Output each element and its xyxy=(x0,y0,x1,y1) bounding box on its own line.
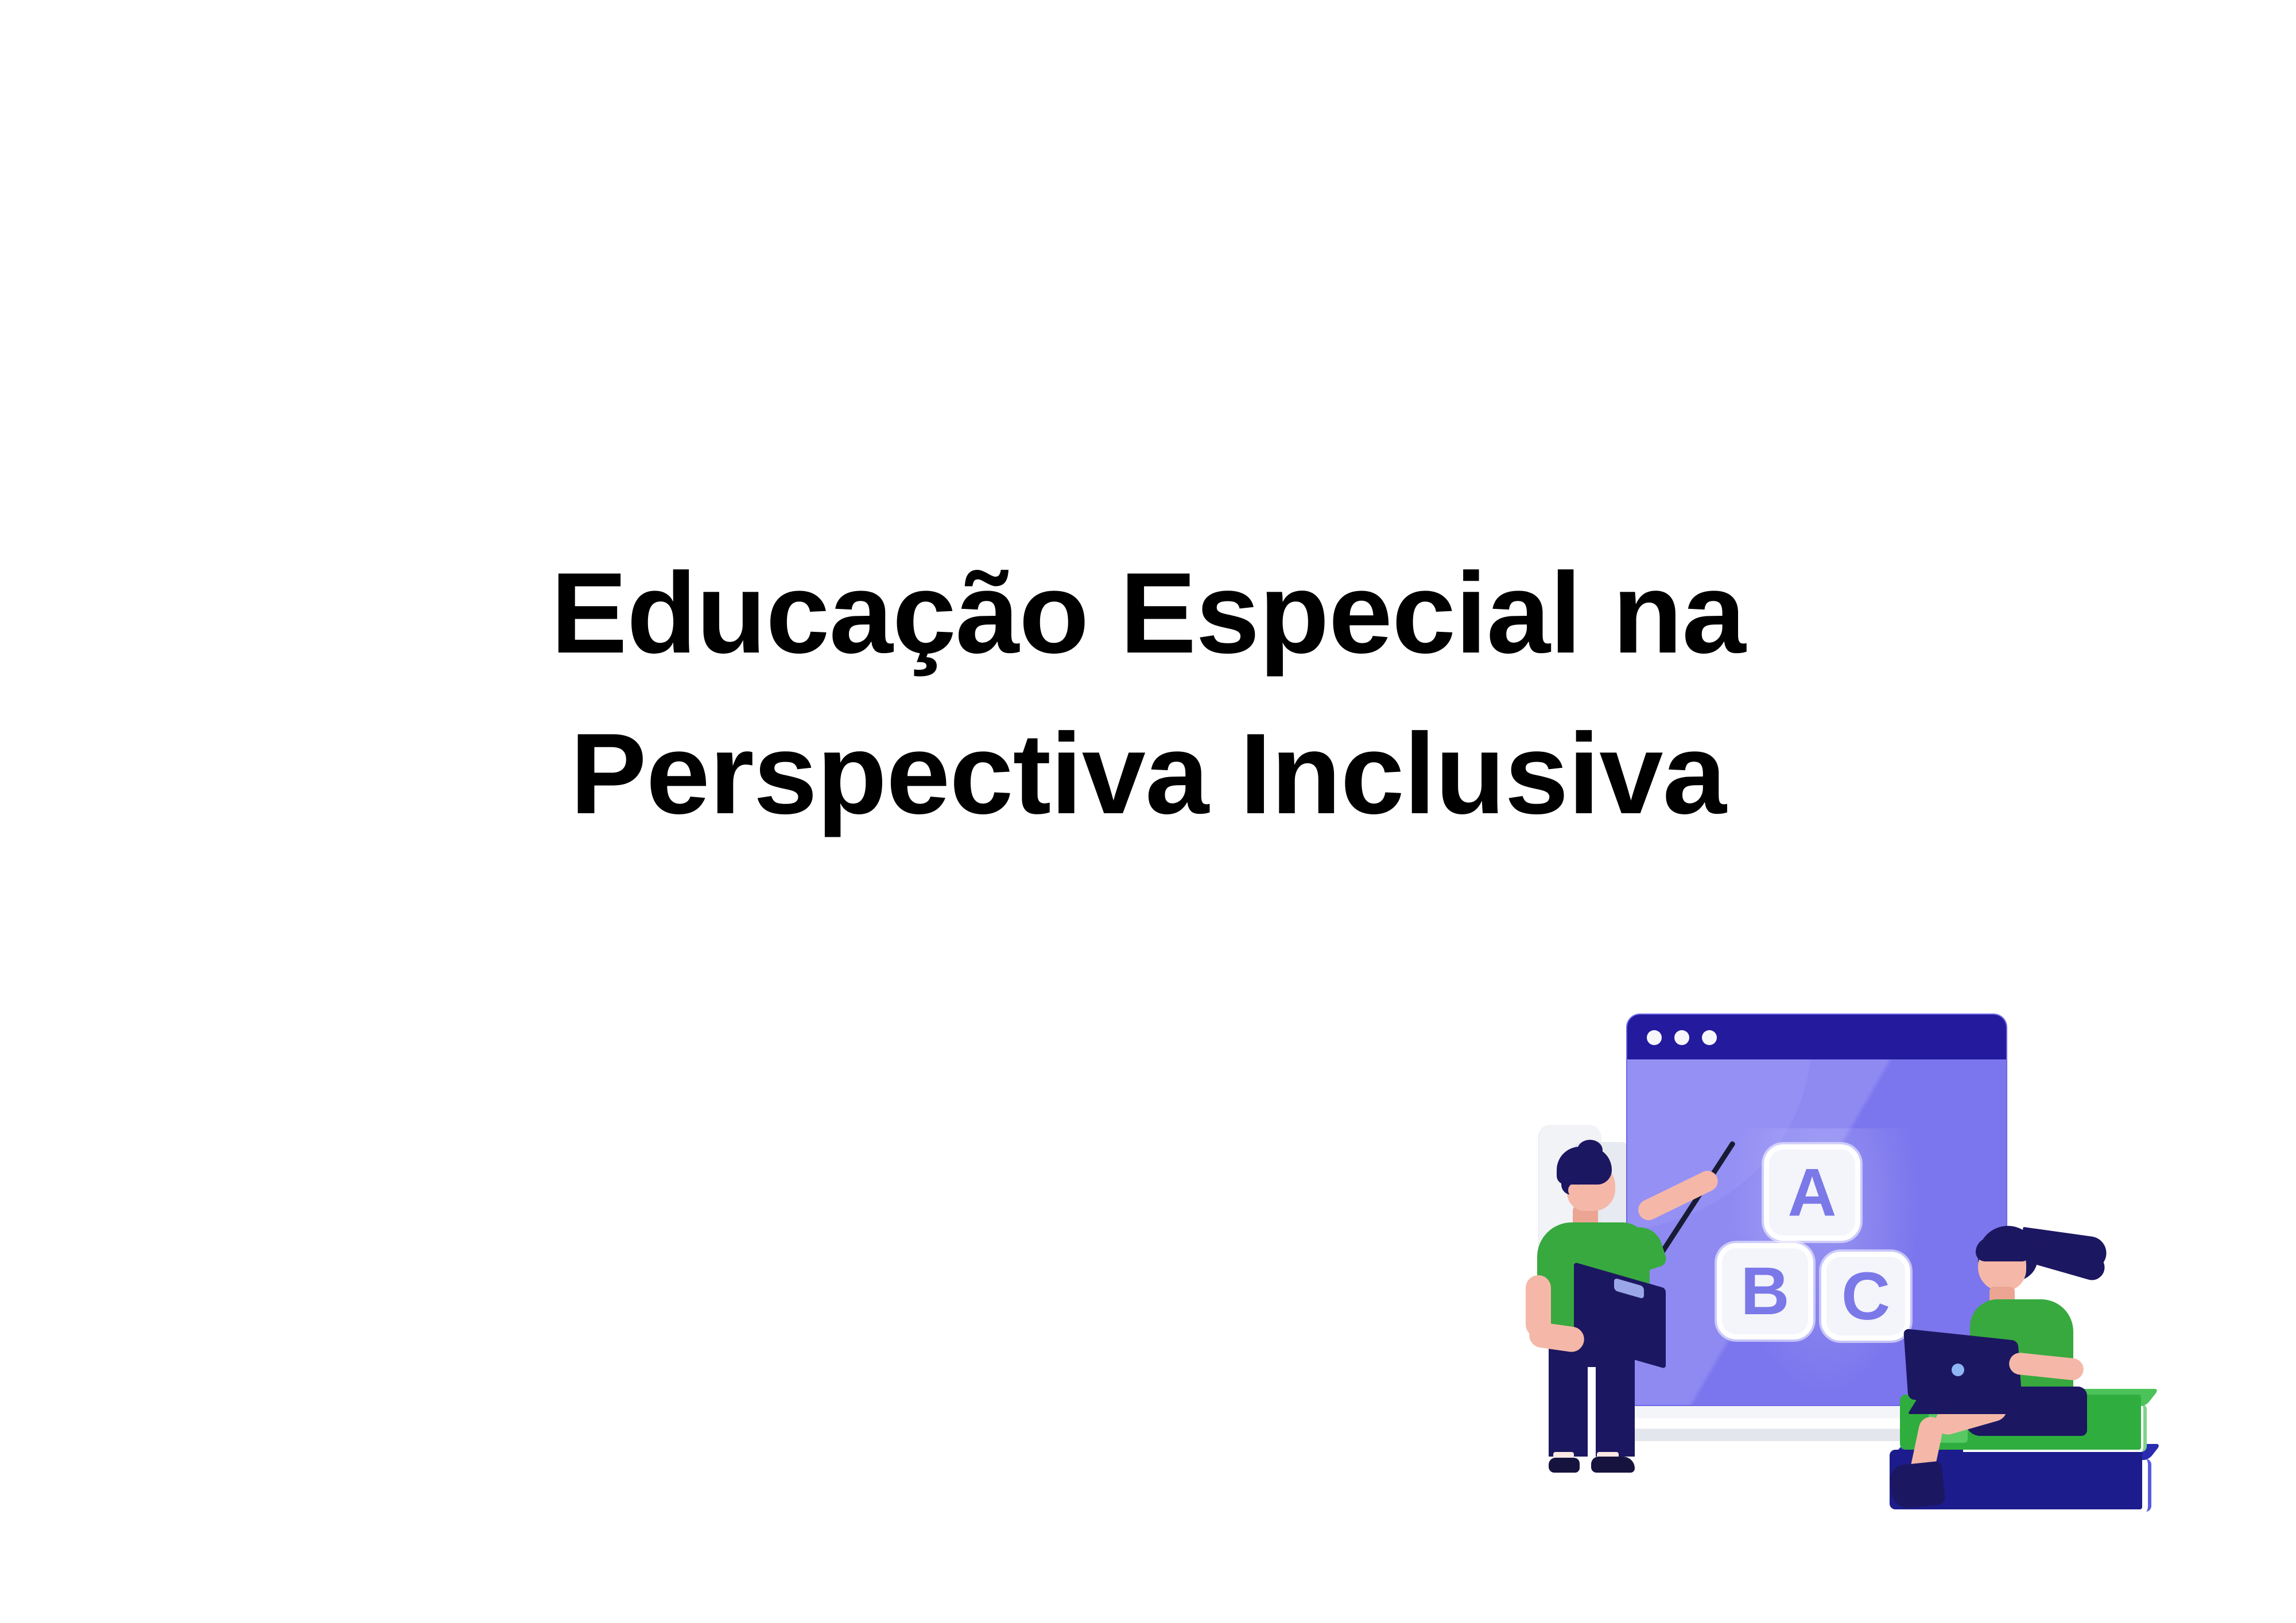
laptop-logo-icon xyxy=(1952,1364,1964,1376)
letter-block-a: A xyxy=(1764,1144,1860,1241)
teacher-shoe-left xyxy=(1549,1458,1580,1473)
window-dot-3-icon xyxy=(1702,1030,1717,1045)
letter-block-c: C xyxy=(1821,1252,1910,1341)
teacher-leg-gap xyxy=(1588,1367,1596,1457)
student-figure xyxy=(1940,1222,2170,1486)
teacher-hair-tuft xyxy=(1577,1140,1603,1160)
student-hair-front xyxy=(1976,1237,2029,1261)
window-controls xyxy=(1647,1030,1717,1045)
window-dot-1-icon xyxy=(1647,1030,1662,1045)
online-education-illustration: A B C xyxy=(1504,970,2262,1544)
title-line-1: Educação Especial na xyxy=(218,534,2078,693)
page-title: Educação Especial na Perspectiva Inclusi… xyxy=(0,534,2296,854)
window-dot-2-icon xyxy=(1674,1030,1689,1045)
title-line-2: Perspectiva Inclusiva xyxy=(218,694,2078,854)
browser-title-bar xyxy=(1627,1015,2006,1059)
teacher-shoe-right xyxy=(1591,1457,1635,1473)
student-shoe xyxy=(1888,1461,1945,1509)
teacher-figure xyxy=(1504,1142,1688,1469)
presentation-slide: Educação Especial na Perspectiva Inclusi… xyxy=(0,0,2296,1623)
teacher-ear xyxy=(1568,1183,1581,1197)
letter-block-b: B xyxy=(1717,1243,1813,1339)
